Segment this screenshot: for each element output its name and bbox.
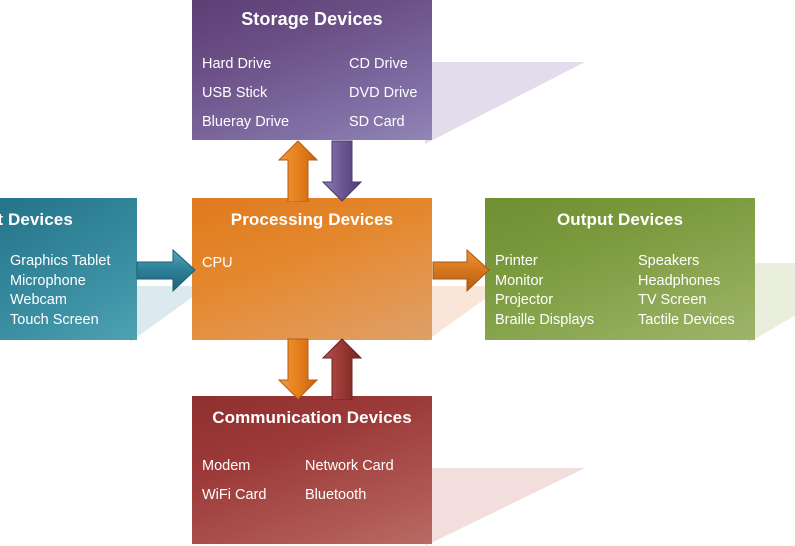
input-col-1: r [0, 252, 10, 330]
storage-devices-lists: Hard Drive USB Stick Blueray Drive CD Dr… [192, 50, 432, 137]
input-devices-title: Input Devices [0, 210, 137, 230]
storage-box-shadow [425, 62, 610, 144]
processing-devices-title: Processing Devices [192, 210, 432, 230]
down-arrow-processing-to-communication[interactable] [278, 338, 318, 400]
list-item: Braille Displays [495, 311, 638, 331]
down-arrow-storage-to-processing[interactable] [322, 140, 362, 202]
list-item: Microphone [10, 272, 110, 292]
list-item: TV Screen [638, 291, 735, 311]
list-item: Graphics Tablet [10, 252, 110, 272]
communication-col-1: Modem WiFi Card [202, 452, 305, 510]
input-devices-box[interactable]: Input Devices r Graphics Tablet Micropho… [0, 198, 137, 340]
list-item: WiFi Card [202, 481, 305, 510]
list-item: Blueray Drive [202, 108, 349, 137]
storage-col-2: CD Drive DVD Drive SD Card [349, 50, 417, 137]
storage-devices-title: Storage Devices [192, 9, 432, 30]
up-arrow-communication-to-processing[interactable] [322, 338, 362, 400]
communication-col-2: Network Card Bluetooth [305, 452, 394, 510]
list-item: Printer [495, 252, 638, 272]
right-arrow-input-to-processing[interactable] [136, 248, 196, 293]
output-devices-title: Output Devices [485, 210, 755, 230]
storage-col-1: Hard Drive USB Stick Blueray Drive [202, 50, 349, 137]
communication-devices-lists: Modem WiFi Card Network Card Bluetooth [192, 452, 432, 510]
list-item: Network Card [305, 452, 394, 481]
communication-box-shadow [425, 468, 610, 546]
list-item: USB Stick [202, 79, 349, 108]
list-item: SD Card [349, 108, 417, 137]
output-col-2: Speakers Headphones TV Screen Tactile De… [638, 252, 735, 330]
devices-flow-diagram: Storage Devices Hard Drive USB Stick Blu… [0, 0, 795, 541]
input-devices-lists: r Graphics Tablet Microphone Webcam Touc… [0, 252, 137, 330]
output-devices-box[interactable]: Output Devices Printer Monitor Projector… [485, 198, 755, 340]
list-item: Hard Drive [202, 50, 349, 79]
list-item: CPU [202, 252, 233, 274]
processing-devices-lists: CPU [192, 252, 432, 274]
communication-devices-title: Communication Devices [192, 408, 432, 428]
input-col-2: Graphics Tablet Microphone Webcam Touch … [10, 252, 110, 330]
up-arrow-processing-to-storage[interactable] [278, 140, 318, 202]
list-item: r [0, 252, 10, 272]
list-item: Headphones [638, 272, 735, 292]
storage-devices-box[interactable]: Storage Devices Hard Drive USB Stick Blu… [192, 0, 432, 140]
list-item: Speakers [638, 252, 735, 272]
list-item: DVD Drive [349, 79, 417, 108]
list-item: Modem [202, 452, 305, 481]
output-box-shadow [748, 263, 795, 343]
list-item: CD Drive [349, 50, 417, 79]
communication-devices-box[interactable]: Communication Devices Modem WiFi Card Ne… [192, 396, 432, 544]
list-item: Webcam [10, 291, 110, 311]
list-item: Touch Screen [10, 311, 110, 331]
right-arrow-processing-to-output[interactable] [432, 248, 490, 293]
output-col-1: Printer Monitor Projector Braille Displa… [495, 252, 638, 330]
processing-devices-box[interactable]: Processing Devices CPU [192, 198, 432, 340]
list-item: Bluetooth [305, 481, 394, 510]
list-item: Monitor [495, 272, 638, 292]
output-devices-lists: Printer Monitor Projector Braille Displa… [485, 252, 755, 330]
list-item: Tactile Devices [638, 311, 735, 331]
list-item: Projector [495, 291, 638, 311]
processing-col-1: CPU [202, 252, 233, 274]
